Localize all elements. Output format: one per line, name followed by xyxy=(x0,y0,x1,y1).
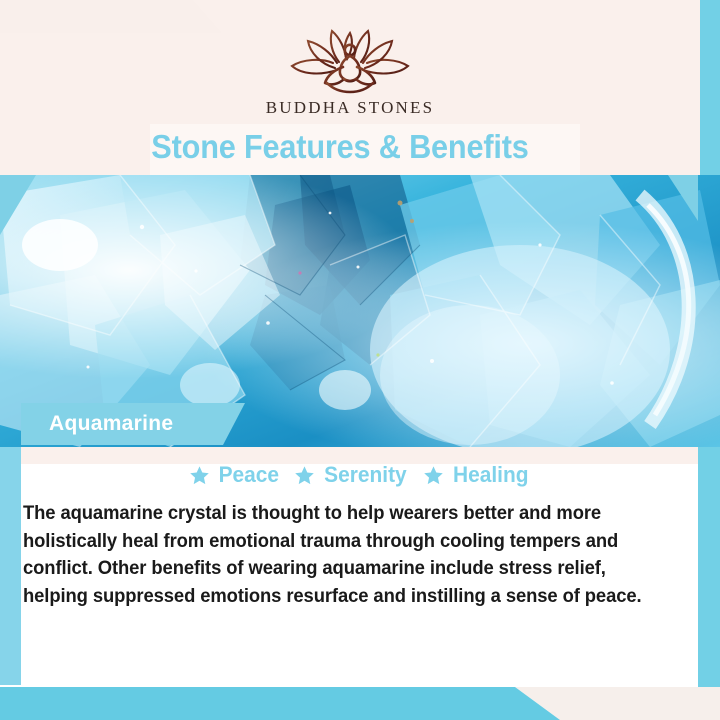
keyword-healing: Healing xyxy=(423,462,530,488)
stone-description: The aquamarine crystal is thought to hel… xyxy=(23,500,653,610)
keyword-serenity: Serenity xyxy=(294,462,409,488)
keyword-label: Serenity xyxy=(324,462,406,488)
stone-name-label: Aquamarine xyxy=(49,412,173,436)
keyword-peace: Peace xyxy=(189,462,281,488)
brand-logo: BUDDHA STONES xyxy=(0,26,700,118)
star-icon xyxy=(294,465,315,486)
stone-name-badge: Aquamarine xyxy=(21,403,245,445)
brand-name: BUDDHA STONES xyxy=(266,98,435,118)
keyword-row: Peace Serenity Healing xyxy=(21,462,698,488)
star-icon xyxy=(423,465,444,486)
stone-features-infographic: BUDDHA STONES Stone Features & Benefits xyxy=(0,0,720,720)
keyword-label: Healing xyxy=(453,462,528,488)
keyword-label: Peace xyxy=(218,462,278,488)
page-title: Stone Features & Benefits xyxy=(24,128,656,166)
bottom-accent-band xyxy=(0,687,560,720)
star-icon xyxy=(189,465,210,486)
top-cream-wedge xyxy=(0,0,222,33)
lotus-meditation-icon xyxy=(275,26,425,96)
